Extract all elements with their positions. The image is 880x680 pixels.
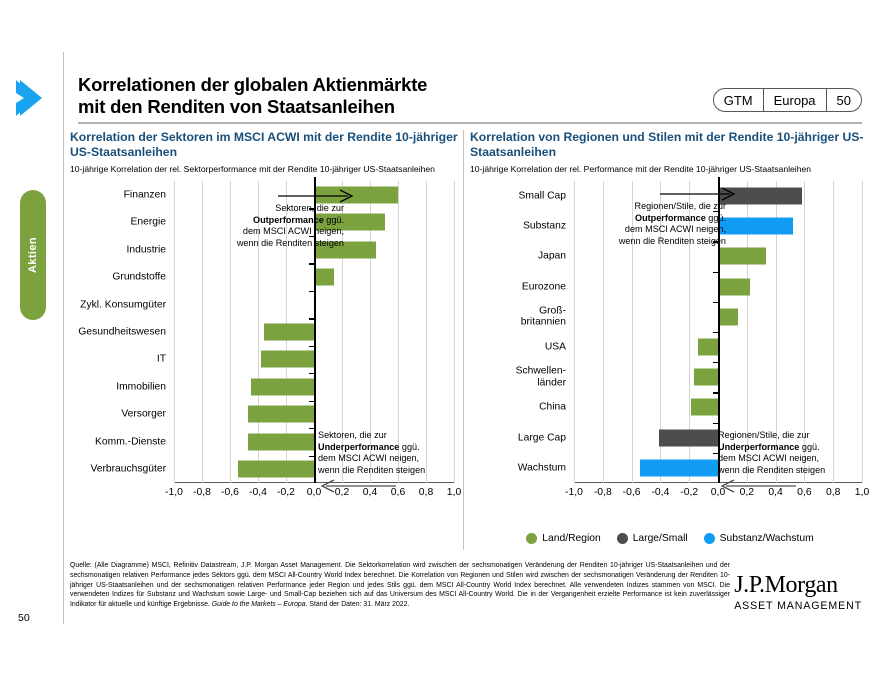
annotation-line: Sektoren, die zur	[174, 203, 344, 215]
chart-legend: Land/RegionLarge/SmallSubstanz/Wachstum	[470, 533, 870, 544]
panel-sectors: Korrelation der Sektoren im MSCI ACWI mi…	[70, 130, 460, 503]
bar	[691, 399, 718, 416]
arrow-left-icon-sectors	[318, 479, 398, 493]
slide-root: Korrelationen der globalen Aktienmärkte …	[0, 0, 880, 680]
category-label: China	[539, 402, 566, 413]
category-label: Immobilien	[116, 381, 166, 392]
x-tick-label: -0,4	[249, 487, 267, 498]
bar	[314, 269, 334, 286]
annotation-line: wenn die Renditen steigen	[566, 236, 726, 248]
arrow-right-icon-sectors	[278, 189, 356, 203]
x-tick-label: -0,8	[193, 487, 211, 498]
category-tick	[713, 362, 718, 363]
legend-label: Large/Small	[633, 533, 688, 544]
annotation-line: dem MSCI ACWI neigen,	[566, 224, 726, 236]
annotation-line: wenn die Renditen steigen	[318, 465, 460, 477]
sidebar-tab-aktien[interactable]: Aktien	[20, 190, 46, 320]
category-label: USA	[545, 341, 566, 352]
category-label: Substanz	[523, 221, 566, 232]
annotation-line: Regionen/Stile, die zur	[718, 430, 868, 442]
bar	[261, 351, 314, 368]
annotation-line: Underperformance ggü.	[718, 442, 868, 454]
x-tick-label: -0,4	[651, 487, 669, 498]
category-label: Energie	[131, 217, 167, 228]
category-tick	[713, 302, 718, 303]
category-tick	[713, 423, 718, 424]
category-tick	[713, 332, 718, 333]
bar	[248, 433, 314, 450]
category-label: Verbrauchsgüter	[90, 464, 166, 475]
bar	[718, 218, 793, 235]
annotation-line: Underperformance ggü.	[318, 442, 460, 454]
chart-regions-styles: Small CapSubstanzJapanEurozoneGroß- brit…	[470, 181, 865, 503]
x-tick-label: 0,8	[826, 487, 840, 498]
x-tick-label: -1,0	[565, 487, 583, 498]
annotation-outperformance-sectors: Sektoren, die zurOutperformance ggü.dem …	[174, 203, 344, 250]
page-title: Korrelationen der globalen Aktienmärkte …	[78, 74, 638, 118]
category-label: Groß- britannien	[521, 306, 566, 329]
category-label: Small Cap	[519, 190, 567, 201]
annotation-line: dem MSCI ACWI neigen,	[318, 453, 460, 465]
annotation-line: Outperformance ggü.	[566, 213, 726, 225]
x-tick-label: 1,0	[447, 487, 461, 498]
annotation-line: dem MSCI ACWI neigen,	[174, 226, 344, 238]
footnote-italic: Guide to the Markets – Europa	[212, 601, 306, 608]
page-title-line2: mit den Renditen von Staatsanleihen	[78, 96, 638, 118]
x-tick-label: 0,8	[419, 487, 433, 498]
category-label: Wachstum	[518, 462, 566, 473]
category-tick	[309, 428, 314, 429]
legend-label: Substanz/Wachstum	[720, 533, 814, 544]
sidebar-tab-label: Aktien	[27, 237, 39, 273]
chart-title-sectors: Korrelation der Sektoren im MSCI ACWI mi…	[70, 130, 460, 161]
category-label: Japan	[538, 251, 566, 262]
category-label: Gesundheitswesen	[78, 326, 166, 337]
x-tick-label: -0,2	[680, 487, 698, 498]
category-tick	[309, 263, 314, 264]
x-tick-label: -1,0	[165, 487, 183, 498]
legend-item: Substanz/Wachstum	[704, 533, 814, 544]
gtm-badge: GTM Europa 50	[713, 88, 862, 112]
badge-region-label: Europa	[763, 89, 826, 111]
chart-subtitle-sectors: 10-jährige Korrelation der rel. Sektorpe…	[70, 164, 460, 174]
x-tick-label: 1,0	[855, 487, 869, 498]
bar	[238, 461, 314, 478]
panel-divider	[463, 130, 464, 550]
annotation-line: Outperformance ggü.	[174, 215, 344, 227]
legend-item: Land/Region	[526, 533, 600, 544]
chart-subtitle-regions: 10-jährige Korrelation der rel. Performa…	[470, 164, 865, 174]
x-tick-label: 0,6	[797, 487, 811, 498]
legend-color-dot	[617, 533, 628, 544]
bar	[694, 369, 718, 386]
bar	[251, 378, 314, 395]
chevron-icon	[14, 78, 48, 118]
category-tick	[309, 456, 314, 457]
category-label: Industrie	[127, 244, 167, 255]
category-tick	[713, 272, 718, 273]
chart-sectors: FinanzenEnergieIndustrieGrundstoffeZykl.…	[70, 181, 460, 503]
x-tick-label: -0,6	[221, 487, 239, 498]
logo-wordmark: J.P.Morgan	[734, 572, 862, 599]
x-tick-label: -0,6	[623, 487, 641, 498]
title-divider	[78, 122, 862, 124]
x-tick-label: -0,8	[594, 487, 612, 498]
legend-color-dot	[526, 533, 537, 544]
bar	[659, 429, 718, 446]
bar	[718, 308, 738, 325]
legend-color-dot	[704, 533, 715, 544]
category-label: Grundstoffe	[112, 271, 166, 282]
left-vertical-rule	[63, 52, 64, 624]
category-labels-regions: Small CapSubstanzJapanEurozoneGroß- brit…	[470, 181, 570, 483]
annotation-line: Regionen/Stile, die zur	[566, 201, 726, 213]
category-label: Finanzen	[124, 189, 166, 200]
category-tick	[309, 318, 314, 319]
annotation-line: Sektoren, die zur	[318, 430, 460, 442]
bar	[698, 339, 718, 356]
category-tick	[309, 346, 314, 347]
annotation-line: dem MSCI ACWI neigen,	[718, 453, 868, 465]
badge-page-number: 50	[826, 89, 861, 111]
category-label: Eurozone	[522, 281, 566, 292]
category-labels-sectors: FinanzenEnergieIndustrieGrundstoffeZykl.…	[70, 181, 170, 483]
annotation-line: wenn die Renditen steigen	[718, 465, 868, 477]
page-title-line1: Korrelationen der globalen Aktienmärkte	[78, 74, 638, 96]
source-footnote: Quelle: (Alle Diagramme) MSCI, Refinitiv…	[70, 561, 730, 610]
arrow-right-icon-regions	[660, 187, 738, 201]
badge-gtm-label: GTM	[714, 89, 763, 111]
category-tick	[309, 291, 314, 292]
category-label: Zykl. Konsumgüter	[80, 299, 166, 310]
category-label: IT	[157, 354, 166, 365]
jpmorgan-logo: J.P.Morgan ASSET MANAGEMENT	[734, 572, 862, 612]
category-tick	[713, 392, 718, 393]
annotation-outperformance-regions: Regionen/Stile, die zurOutperformance gg…	[566, 201, 726, 248]
category-label: Komm.-Dienste	[95, 436, 166, 447]
bar	[718, 278, 750, 295]
x-tick-labels-sectors: -1,0-0,8-0,6-0,4-0,20,00,20,40,60,81,0	[174, 487, 454, 503]
bar	[640, 459, 718, 476]
legend-item: Large/Small	[617, 533, 688, 544]
chart-title-regions: Korrelation von Regionen und Stilen mit …	[470, 130, 865, 161]
bar	[248, 406, 314, 423]
category-label: Schwellen- länder	[516, 366, 566, 389]
logo-tagline: ASSET MANAGEMENT	[734, 600, 862, 612]
x-tick-label: -0,2	[277, 487, 295, 498]
annotation-underperformance-sectors: Sektoren, die zurUnderperformance ggü.de…	[318, 430, 460, 477]
category-label: Large Cap	[518, 432, 566, 443]
annotation-line: wenn die Renditen steigen	[174, 238, 344, 250]
bar	[264, 323, 314, 340]
legend-label: Land/Region	[542, 533, 600, 544]
category-tick	[309, 373, 314, 374]
bar	[718, 248, 766, 265]
arrow-left-icon-regions	[718, 479, 798, 493]
category-tick	[309, 401, 314, 402]
page-number: 50	[18, 612, 30, 624]
panel-regions-styles: Korrelation von Regionen und Stilen mit …	[470, 130, 865, 503]
category-label: Versorger	[121, 409, 166, 420]
annotation-underperformance-regions: Regionen/Stile, die zurUnderperformance …	[718, 430, 868, 477]
